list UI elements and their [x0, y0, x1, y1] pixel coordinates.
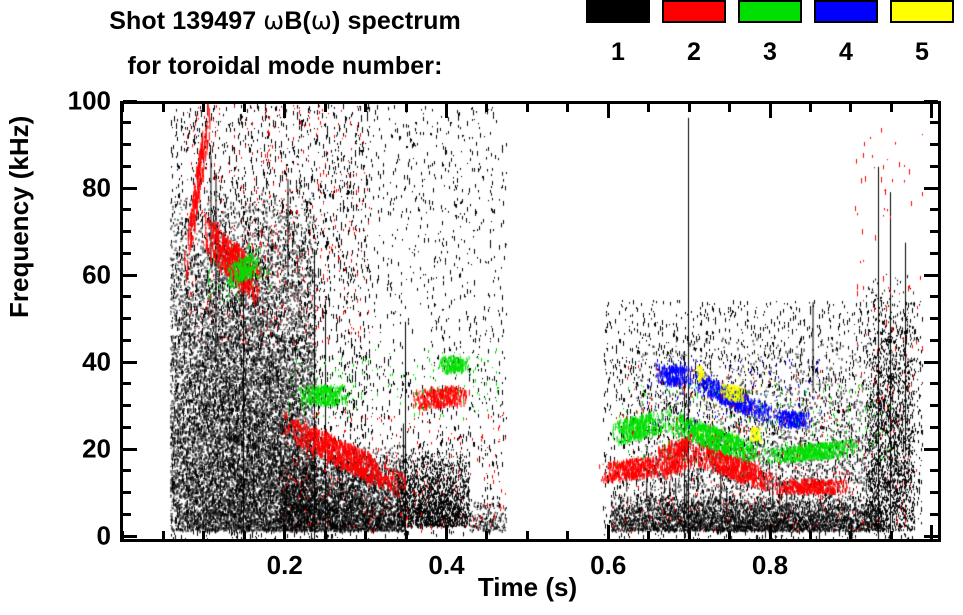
legend-label-n5: 5 [890, 40, 954, 65]
ytick-right-55 [930, 295, 938, 298]
ytick-80 [123, 187, 137, 190]
xtick-0.25 [324, 531, 327, 539]
spectrogram-figure: Shot 139497 ωB(ω) spectrum for toroidal … [0, 0, 963, 615]
xtick-0.40 [445, 525, 448, 539]
legend-label-n3: 3 [738, 40, 802, 65]
xtick-0.45 [485, 531, 488, 539]
xtick-top-0.15 [243, 104, 246, 112]
title-spectrum-text: ) spectrum [332, 7, 461, 35]
ytick-10 [123, 491, 131, 494]
xtick-0.35 [405, 531, 408, 539]
ytick-45 [123, 339, 131, 342]
xtick-0.60 [607, 525, 610, 539]
xtick-top-0.60 [607, 104, 610, 118]
xtick-top-0.10 [202, 104, 205, 112]
ytick-15 [123, 469, 131, 472]
xtick-0.30 [364, 531, 367, 539]
xtick-0.00 [121, 531, 124, 539]
ytick-25 [123, 426, 131, 429]
ytick-right-35 [930, 382, 938, 385]
xtick-top-1.00 [930, 104, 933, 118]
xtick-0.65 [647, 531, 650, 539]
ytick-85 [123, 165, 131, 168]
xtick-top-0.20 [283, 104, 286, 118]
ytick-65 [123, 252, 131, 255]
ytick-right-15 [930, 469, 938, 472]
plot-frame [120, 101, 941, 542]
xtick-top-0.90 [849, 104, 852, 112]
legend-label-n4: 4 [814, 40, 878, 65]
ytick-right-50 [930, 317, 938, 320]
legend: 12345 [578, 0, 963, 95]
xtick-top-0.55 [566, 104, 569, 112]
ytick-20 [123, 448, 137, 451]
figure-title: Shot 139497 ωB(ω) spectrum for toroidal … [0, 0, 570, 95]
legend-item-n4: 4 [814, 0, 878, 65]
omega-symbol-1: ω [263, 6, 284, 35]
ytick-label-40: 40 [82, 347, 111, 378]
ytick-right-100 [924, 100, 938, 103]
xtick-top-0.65 [647, 104, 650, 112]
legend-item-n3: 3 [738, 0, 802, 65]
legend-item-n2: 2 [662, 0, 726, 65]
xtick-0.10 [202, 531, 205, 539]
omega-symbol-2: ω [311, 6, 332, 35]
xtick-top-0.30 [364, 104, 367, 112]
legend-swatch-n1 [586, 0, 650, 23]
xtick-0.05 [162, 531, 165, 539]
xtick-0.70 [688, 531, 691, 539]
xtick-0.15 [243, 531, 246, 539]
xtick-0.55 [566, 531, 569, 539]
xtick-top-0.35 [405, 104, 408, 112]
ytick-50 [123, 317, 131, 320]
ytick-right-30 [930, 404, 938, 407]
ytick-right-45 [930, 339, 938, 342]
legend-item-n5: 5 [890, 0, 954, 65]
xtick-0.90 [849, 531, 852, 539]
ytick-35 [123, 382, 131, 385]
legend-swatch-n3 [738, 0, 802, 23]
xtick-top-0.85 [809, 104, 812, 112]
xtick-0.75 [728, 531, 731, 539]
xtick-0.95 [890, 531, 893, 539]
xtick-top-0.40 [445, 104, 448, 118]
xtick-0.50 [526, 531, 529, 539]
spectrogram-canvas [123, 104, 938, 539]
title-shot-text: Shot 139497 [109, 7, 263, 35]
ytick-label-20: 20 [82, 434, 111, 465]
ytick-90 [123, 143, 131, 146]
xtick-top-0.25 [324, 104, 327, 112]
x-axis-title: Time (s) [120, 572, 935, 603]
ytick-60 [123, 274, 137, 277]
ytick-right-80 [924, 187, 938, 190]
xtick-top-0.50 [526, 104, 529, 112]
ytick-5 [123, 513, 131, 516]
ytick-55 [123, 295, 131, 298]
xtick-1.00 [930, 525, 933, 539]
legend-item-n1: 1 [586, 0, 650, 65]
ytick-70 [123, 230, 131, 233]
ytick-label-60: 60 [82, 260, 111, 291]
xtick-top-0.95 [890, 104, 893, 112]
xtick-0.80 [769, 525, 772, 539]
ytick-right-25 [930, 426, 938, 429]
xtick-top-0.00 [121, 104, 124, 112]
ytick-right-60 [924, 274, 938, 277]
y-axis-title: Frequency (kHz) [4, 116, 35, 318]
ytick-95 [123, 121, 131, 124]
ytick-100 [123, 100, 137, 103]
legend-swatch-n2 [662, 0, 726, 23]
ytick-label-0: 0 [97, 521, 111, 552]
legend-label-n2: 2 [662, 40, 726, 65]
legend-swatch-n5 [890, 0, 954, 23]
xtick-0.20 [283, 525, 286, 539]
ytick-label-100: 100 [68, 86, 111, 117]
xtick-top-0.05 [162, 104, 165, 112]
ytick-75 [123, 208, 131, 211]
legend-label-n1: 1 [586, 40, 650, 65]
ytick-right-10 [930, 491, 938, 494]
ytick-right-95 [930, 121, 938, 124]
ytick-right-65 [930, 252, 938, 255]
xtick-top-0.45 [485, 104, 488, 112]
xtick-top-0.70 [688, 104, 691, 112]
ytick-0 [123, 535, 137, 538]
ytick-right-40 [924, 361, 938, 364]
ytick-right-20 [924, 448, 938, 451]
ytick-right-85 [930, 165, 938, 168]
ytick-label-80: 80 [82, 173, 111, 204]
title-line-1: Shot 139497 ωB(ω) spectrum [0, 6, 570, 36]
ytick-right-90 [930, 143, 938, 146]
ytick-right-70 [930, 230, 938, 233]
ytick-40 [123, 361, 137, 364]
xtick-0.85 [809, 531, 812, 539]
xtick-top-0.80 [769, 104, 772, 118]
xtick-top-0.75 [728, 104, 731, 112]
plot-area [123, 104, 938, 539]
ytick-30 [123, 404, 131, 407]
title-b-open: B( [284, 7, 311, 35]
title-line-2: for toroidal mode number: [0, 52, 570, 81]
ytick-right-75 [930, 208, 938, 211]
ytick-right-5 [930, 513, 938, 516]
legend-swatch-n4 [814, 0, 878, 23]
